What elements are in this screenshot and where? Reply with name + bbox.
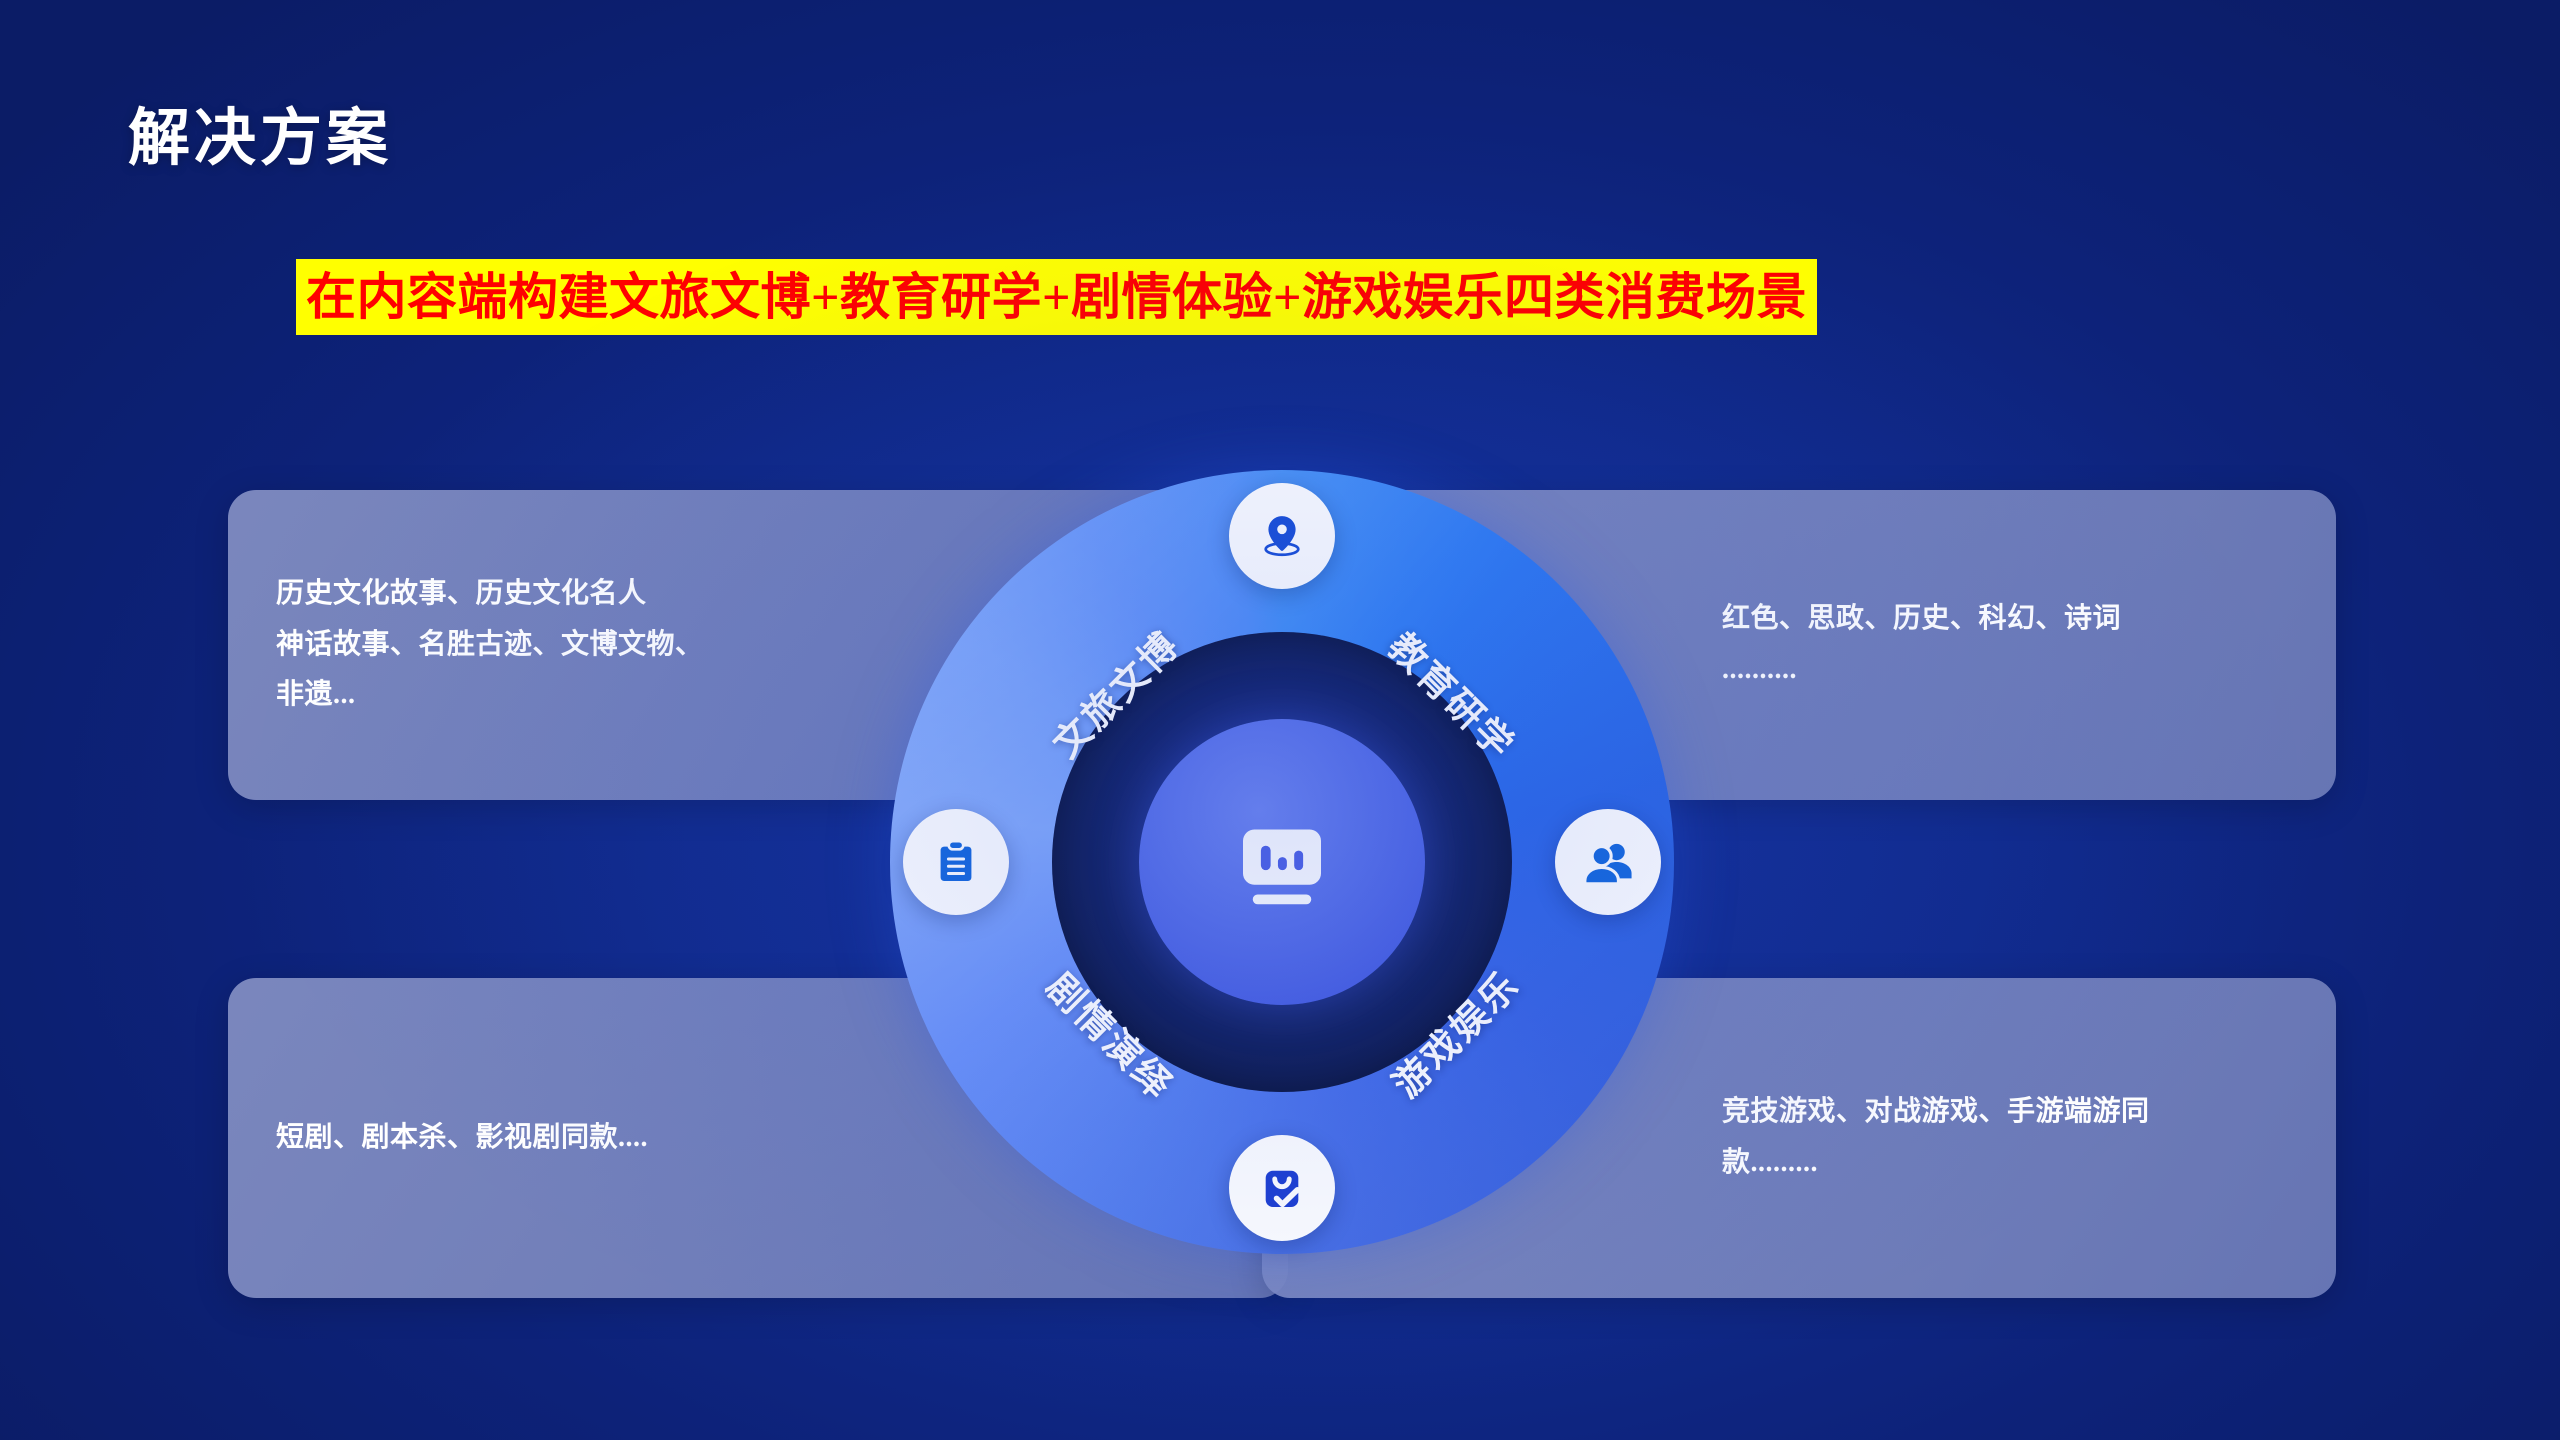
donut-diagram: 文旅文博 教育研学 剧情演绎 游戏娱乐 — [890, 470, 1674, 1254]
clipboard-icon — [927, 833, 985, 891]
badge-right[interactable] — [1555, 809, 1661, 915]
users-icon — [1579, 833, 1637, 891]
badge-left[interactable] — [903, 809, 1009, 915]
slide-canvas: 解决方案 在内容端构建文旅文博+教育研学+剧情体验+游戏娱乐四类消费场景 历史文… — [0, 0, 2560, 1440]
badge-bottom[interactable] — [1229, 1135, 1335, 1241]
page-title: 解决方案 — [128, 108, 392, 170]
location-pin-icon — [1253, 507, 1311, 565]
donut-core — [1139, 719, 1425, 1005]
monitor-chart-icon — [1230, 810, 1334, 914]
badge-top[interactable] — [1229, 483, 1335, 589]
bag-check-icon — [1253, 1159, 1311, 1217]
highlight-banner: 在内容端构建文旅文博+教育研学+剧情体验+游戏娱乐四类消费场景 — [296, 259, 1817, 335]
highlight-banner-text: 在内容端构建文旅文博+教育研学+剧情体验+游戏娱乐四类消费场景 — [306, 272, 1807, 322]
